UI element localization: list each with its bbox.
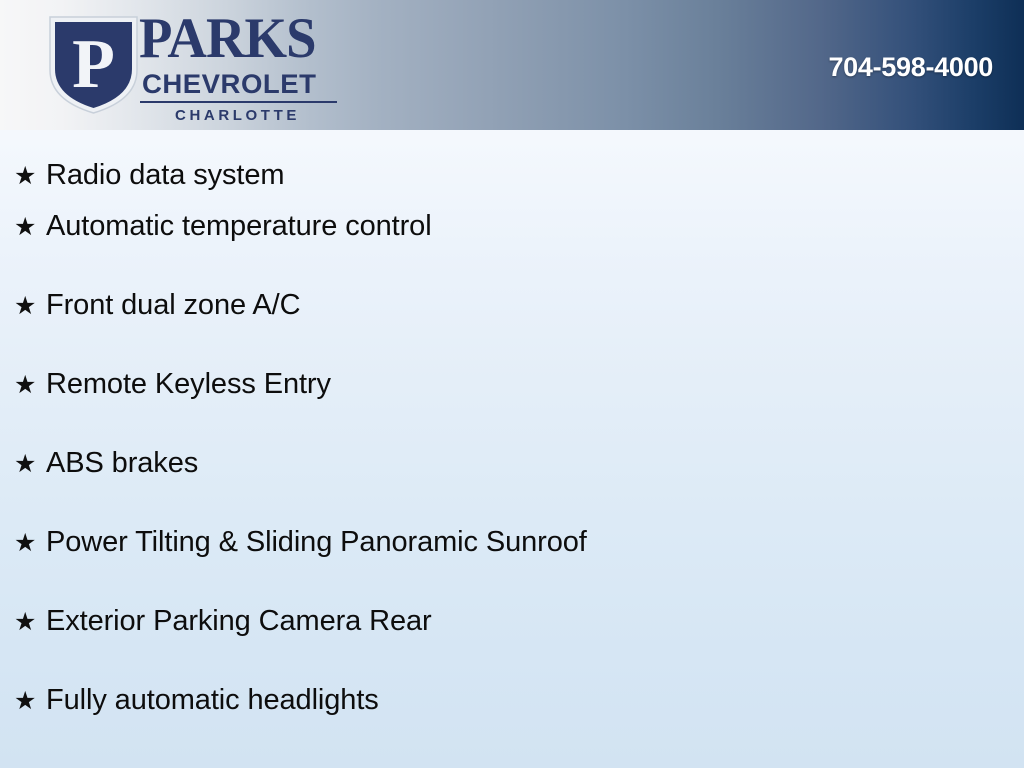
star-bullet-icon: ★	[14, 161, 46, 191]
feature-label: Front dual zone A/C	[46, 288, 300, 322]
parks-shield-logo-icon: P	[47, 12, 140, 115]
feature-label: Fully automatic headlights	[46, 683, 379, 717]
wordmark-chevrolet: CHEVROLET	[142, 70, 353, 98]
list-item: ★ Automatic temperature control	[0, 209, 1024, 288]
feature-label: Exterior Parking Camera Rear	[46, 604, 432, 638]
parks-chevrolet-wordmark: PARKS CHEVROLET CHARLOTTE	[139, 10, 349, 120]
list-item: ★ ABS brakes	[0, 446, 1024, 525]
list-item: ★ Fully automatic headlights	[0, 683, 1024, 762]
feature-label: Automatic temperature control	[46, 209, 432, 243]
star-bullet-icon: ★	[14, 686, 46, 716]
list-item: ★ Exterior Parking Camera Rear	[0, 604, 1024, 683]
star-bullet-icon: ★	[14, 449, 46, 479]
feature-label: ABS brakes	[46, 446, 198, 480]
vehicle-feature-list: ★ Radio data system ★ Automatic temperat…	[0, 130, 1024, 762]
feature-label: Remote Keyless Entry	[46, 367, 331, 401]
wordmark-divider-rule	[140, 101, 337, 103]
feature-label: Power Tilting & Sliding Panoramic Sunroo…	[46, 525, 587, 559]
page-header: P PARKS CHEVROLET CHARLOTTE 704-598-4000	[0, 0, 1024, 130]
list-item: ★ Front dual zone A/C	[0, 288, 1024, 367]
list-item: ★ Radio data system	[0, 130, 1024, 209]
list-item: ★ Remote Keyless Entry	[0, 367, 1024, 446]
star-bullet-icon: ★	[14, 370, 46, 400]
wordmark-charlotte: CHARLOTTE	[139, 107, 336, 124]
star-bullet-icon: ★	[14, 291, 46, 321]
star-bullet-icon: ★	[14, 528, 46, 558]
wordmark-parks: PARKS	[139, 10, 341, 68]
star-bullet-icon: ★	[14, 607, 46, 637]
list-item: ★ Power Tilting & Sliding Panoramic Sunr…	[0, 525, 1024, 604]
feature-label: Radio data system	[46, 158, 284, 192]
star-bullet-icon: ★	[14, 212, 46, 242]
shield-letter-p: P	[72, 26, 115, 103]
dealer-phone-number[interactable]: 704-598-4000	[828, 52, 993, 83]
